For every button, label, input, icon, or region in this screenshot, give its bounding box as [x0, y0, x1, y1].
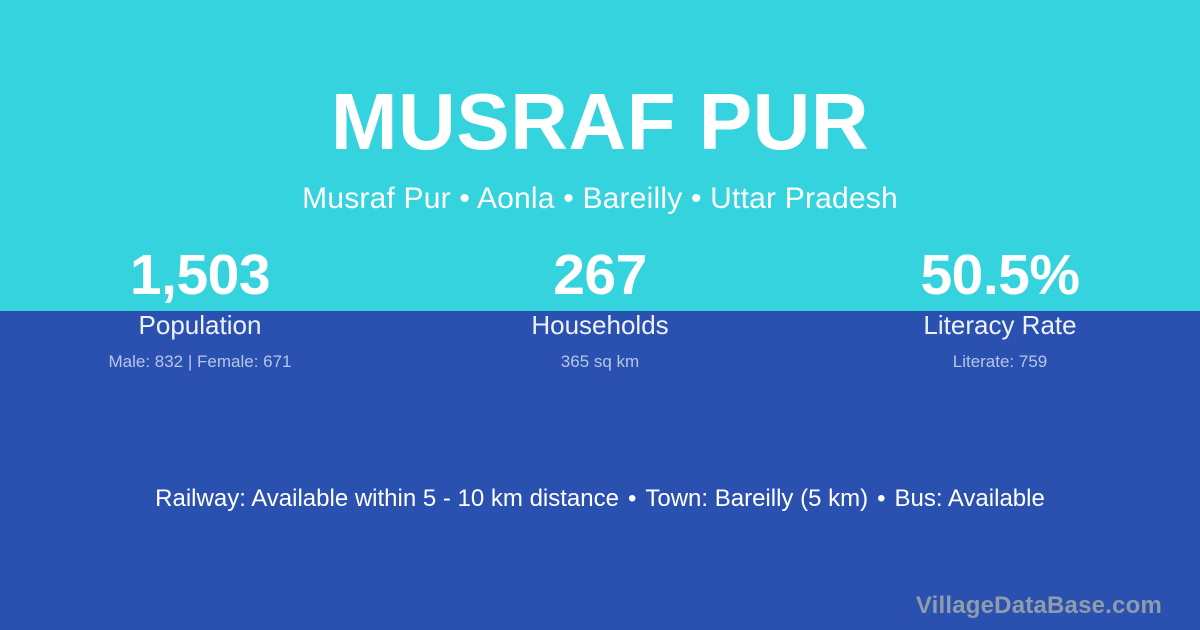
stat-sublabel: Male: 832 | Female: 671 — [0, 353, 400, 370]
bus-info: Bus: Available — [894, 485, 1044, 512]
town-info: Town: Bareilly (5 km) — [645, 485, 868, 512]
stat-sublabel: Literate: 759 — [800, 353, 1200, 370]
stat-value: 267 — [400, 246, 800, 304]
stat-literacy-rate: 50.5% Literacy Rate Literate: 759 — [800, 246, 1200, 370]
stat-sublabel: 365 sq km — [400, 353, 800, 370]
stat-label: Households — [400, 312, 800, 338]
amenities-line: Railway: Available within 5 - 10 km dist… — [0, 487, 1200, 511]
stat-label: Population — [0, 312, 400, 338]
page-title: MUSRAF PUR — [0, 82, 1200, 162]
card-header: MUSRAF PUR Musraf Pur • Aonla • Bareilly… — [0, 0, 1200, 214]
stat-value: 1,503 — [0, 246, 400, 304]
bullet-separator-icon: • — [619, 487, 645, 511]
site-watermark: VillageDataBase.com — [916, 594, 1162, 618]
railway-info: Railway: Available within 5 - 10 km dist… — [155, 485, 619, 512]
stat-label: Literacy Rate — [800, 312, 1200, 338]
stats-row: 1,503 Population Male: 832 | Female: 671… — [0, 246, 1200, 370]
stat-households: 267 Households 365 sq km — [400, 246, 800, 370]
breadcrumb: Musraf Pur • Aonla • Bareilly • Uttar Pr… — [0, 184, 1200, 214]
bullet-separator-icon: • — [868, 487, 894, 511]
stat-value: 50.5% — [800, 246, 1200, 304]
village-info-card: MUSRAF PUR Musraf Pur • Aonla • Bareilly… — [0, 0, 1200, 630]
stat-population: 1,503 Population Male: 832 | Female: 671 — [0, 246, 400, 370]
